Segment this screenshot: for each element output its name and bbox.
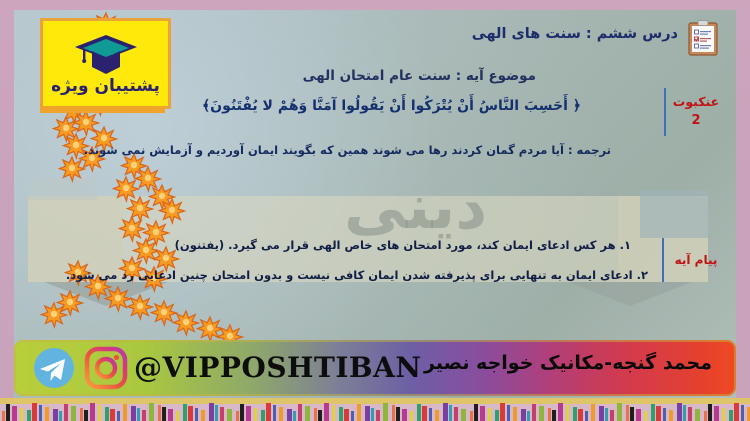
slide-canvas: دینی [0, 0, 750, 421]
social-handle: @VIPPOSHTIBAN [134, 351, 421, 384]
verse-translation: ترجمه : آیا مردم گمان کردند رها می شوند … [84, 143, 611, 157]
payam-badge: پیام آیه [668, 253, 724, 267]
message-item-2: ۲. ادعای ایمان به تنهایی برای پذیرفته شد… [66, 268, 648, 282]
watermark-text: دینی [344, 170, 487, 243]
surah-badge: عنکبوت 2 [670, 92, 722, 132]
surah-name: عنکبوت [670, 92, 722, 111]
colored-pencils-strip [0, 398, 750, 421]
subject-line: موضوع آیه : سنت عام امتحان الهی [303, 68, 536, 84]
footer-banner: @VIPPOSHTIBAN محمد گنجه-مکانیک خواجه نصی… [14, 340, 736, 396]
brand-logo-text: پشتیبان ویژه [51, 76, 160, 96]
quran-verse: ﴿ أَحَسِبَ النَّاسُ أَنْ يُتْرَكُوا أَنْ… [202, 98, 581, 114]
brand-logo-card: پشتیبان ویژه [40, 18, 171, 109]
clipboard-checklist-icon [688, 20, 718, 56]
telegram-icon[interactable] [32, 346, 76, 390]
page-title: درس ششم : سنت های الهی [472, 26, 678, 42]
surah-divider-line [664, 88, 666, 136]
payam-divider-line [662, 238, 664, 282]
logo-underline-bar [40, 106, 165, 113]
message-item-1: ۱. هر کس ادعای ایمان کند، مورد امتحان ها… [175, 238, 631, 252]
instagram-icon[interactable] [84, 346, 128, 390]
graduation-cap-icon [73, 33, 139, 75]
ayah-number: 2 [670, 111, 722, 131]
author-credit: محمد گنجه-مکانیک خواجه نصیر [424, 352, 712, 374]
